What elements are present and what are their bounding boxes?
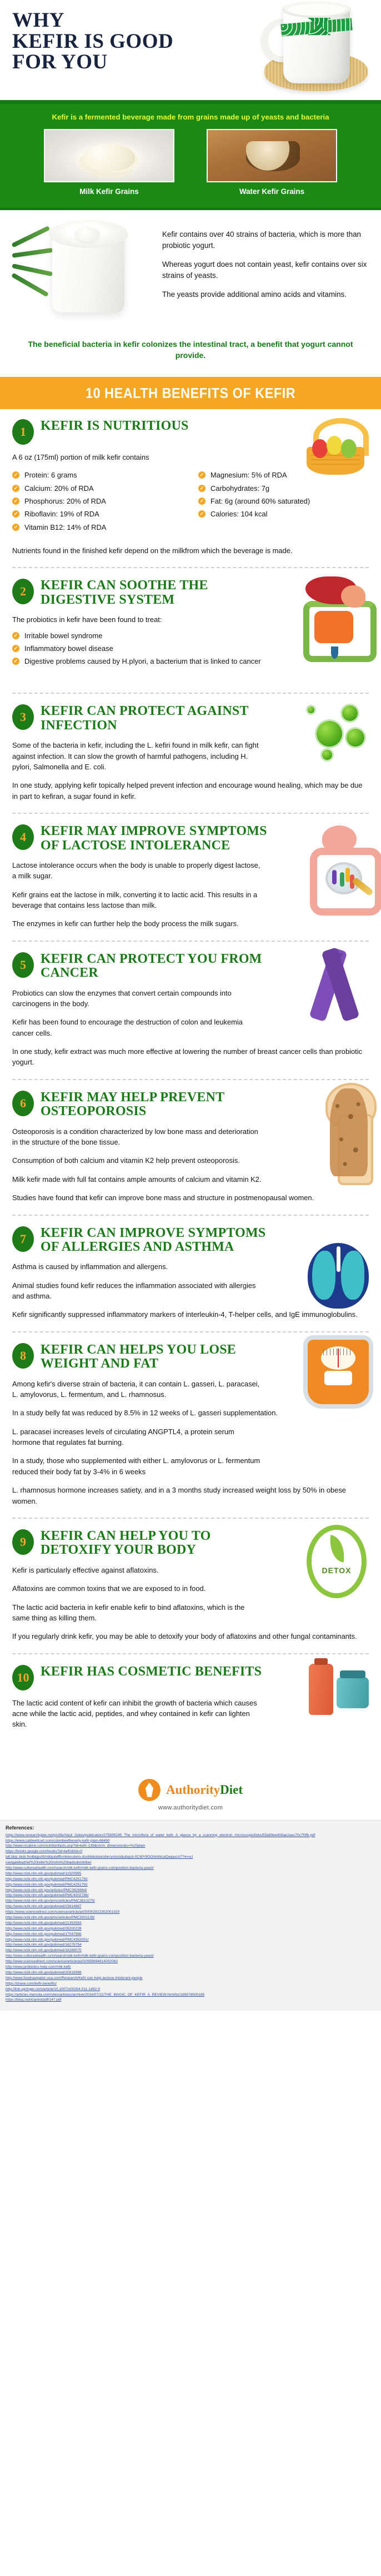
reference-link[interactable]: http://www.ncbi.nlm.nih.gov/pmc/articles… [6,1915,375,1921]
nutrition-list-left: ✓Protein: 6 grams ✓Calcium: 20% of RDA ✓… [12,470,183,533]
benefit-body: The lactic acid content of kefir can inh… [12,1698,369,1760]
benefit-number-badge: 8 [12,1343,34,1369]
reference-link[interactable]: http://www.ncbi.nlm.nih.gov/pubmed/23614… [6,1904,375,1909]
benefit-title: KEFIR CAN IMPROVE SYMPTOMS OF ALLERGIES … [41,1225,279,1255]
list-item-label: Irritable bowel syndrome [24,631,102,640]
yogurt-swirl-shape [74,227,100,241]
benefit-paragraph: In a study belly fat was reduced by 8.5%… [12,1408,369,1418]
benefit-heading: 5 KEFIR CAN PROTECT YOU FROM CANCER [12,951,369,981]
treats-list: ✓Irritable bowel syndrome ✓Inflammatory … [12,631,369,667]
benefit-paragraph: In a study, those who supplemented with … [12,1455,263,1477]
reference-link[interactable]: http://www.ncbi.nlm.nih.gov/pubmed/PMC42… [6,1882,375,1888]
intro-section: Kefir contains over 40 strains of bacter… [0,210,381,377]
list-item-label: Vitamin B12: 14% of RDA [24,523,106,531]
list-item-label: Digestive problems caused by H.plyori, a… [24,657,261,665]
page-title-line-2: KEFIR IS GOOD [12,31,234,52]
reference-link[interactable]: http://www.ncbi.nlm.nih.gov/articles/PMC… [6,1888,375,1893]
section-header-title: 10 HEALTH BENEFITS OF KEFIR [86,385,295,402]
benefit-number-badge: 1 [12,419,34,445]
benefit-block-9: DETOX 9 KEFIR CAN HELP YOU TO DETOXIFY Y… [0,1519,381,1650]
intro-paragraph: Kefir contains over 40 strains of bacter… [162,229,369,251]
section-header-bar: 10 HEALTH BENEFITS OF KEFIR [0,377,381,409]
page-title: WHY KEFIR IS GOOD FOR YOU [12,10,234,73]
check-icon: ✓ [198,510,205,518]
benefit-number-badge: 2 [12,579,34,604]
reference-link[interactable]: http://www.cultureahealth.com/search/sil… [6,1953,375,1959]
list-item-label: Riboflavin: 19% of RDA [24,510,99,518]
reference-link[interactable]: http://www.ncbi.nlm.nih.gov/pubmed/20616… [6,1970,375,1976]
benefit-paragraph: L. paracasei increases levels of circula… [12,1426,263,1448]
green-banner-section: Kefir is a fermented beverage made from … [0,104,381,208]
benefit-body: Osteoporosis is a condition characterize… [12,1126,369,1204]
reference-link[interactable]: http://www.ncbi.nlm.nih.gov/pubmed/26200… [6,1926,375,1932]
list-item-label: Magnesium: 5% of RDA [210,471,287,479]
benefit-body: Probiotics can slow the enzymes that con… [12,988,369,1068]
list-item: ✓Magnesium: 5% of RDA [198,470,369,480]
benefit-block-7: 7 KEFIR CAN IMPROVE SYMPTOMS OF ALLERGIE… [0,1216,381,1328]
reference-link[interactable]: http://www.ncbi.nlm.nih.gov/pubmed/16289… [6,1948,375,1953]
kefir-grain-gallery: Milk Kefir Grains Water Kefir Grains [0,129,381,196]
milk-surface-shape [288,4,345,16]
benefit-body: Among kefir's diverse strain of bacteria… [12,1379,369,1506]
reference-link[interactable]: http://www.ncbi.nlm.nih.gov/pubmed/PMC42… [6,1877,375,1882]
nutrition-outro: Nutrients found in the finished kefir de… [12,545,369,556]
benefit-title: KEFIR CAN SOOTHE THE DIGESTIVE SYSTEM [41,578,263,607]
grain-card: Water Kefir Grains [207,129,337,196]
reference-link[interactable]: http://www.ncbi.nlm.nih.gov/pubmed/PMC40… [6,1893,375,1898]
benefit-body: Kefir is particularly effective against … [12,1565,369,1642]
benefit-number-badge: 5 [12,952,34,978]
reference-link[interactable]: http://www.ncbi.nlm.nih.gov/pmc/articles… [6,1898,375,1904]
benefit-number-badge: 9 [12,1529,34,1555]
benefit-body: A 6 oz (175ml) portion of milk kefir con… [12,452,369,556]
benefit-title: KEFIR MAY HELP PREVENT OSTEOPOROSIS [41,1090,263,1119]
list-item: ✓Phosphorus: 20% of RDA [12,496,183,506]
benefit-paragraph: Among kefir's diverse strain of bacteria… [12,1379,263,1400]
benefit-heading: 3 KEFIR CAN PROTECT AGAINST INFECTION [12,703,369,733]
footer-url[interactable]: www.authoritydiet.com [0,1804,381,1811]
benefit-number-badge: 10 [12,1665,34,1690]
list-item-label: Protein: 6 grams [24,471,77,479]
benefit-intro: The probiotics in kefir have been found … [12,614,369,625]
reference-link[interactable]: https://www.sciencedirect.com/science/ar… [6,1909,375,1915]
yogurt-illustration [9,217,159,334]
benefit-paragraph: Osteoporosis is a condition characterize… [12,1126,263,1148]
benefit-heading: 9 KEFIR CAN HELP YOU TO DETOXIFY YOUR BO… [12,1528,369,1558]
benefit-title: KEFIR CAN PROTECT YOU FROM CANCER [41,951,263,981]
reference-link[interactable]: https://articles.mercola.com/sites/artic… [6,1992,375,1998]
list-item-label: Calories: 104 kcal [210,510,267,518]
reference-link[interactable]: http://www.foodnavigator-usa.com/Researc… [6,1976,375,1981]
intro-paragraphs: Kefir contains over 40 strains of bacter… [162,229,369,309]
milk-kefir-grains-image [44,129,174,182]
benefit-number-badge: 4 [12,824,34,850]
benefit-paragraph: Kefir has been found to encourage the de… [12,1017,263,1038]
benefit-title: KEFIR CAN HELPS YOU LOSE WEIGHT AND FAT [41,1342,263,1371]
benefit-block-8: 8 KEFIR CAN HELPS YOU LOSE WEIGHT AND FA… [0,1333,381,1514]
benefit-title: KEFIR MAY IMPROVE SYMPTOMS OF LACTOSE IN… [41,823,279,853]
benefit-body: Asthma is caused by inflammation and all… [12,1261,369,1320]
water-kefir-grains-caption: Water Kefir Grains [207,182,337,196]
page-title-line-1: WHY [12,10,234,31]
benefit-paragraph: Animal studies found kefir reduces the i… [12,1280,263,1302]
check-icon: ✓ [12,645,19,652]
reference-link[interactable]: http://www.ncbi.nlm.nih.gov/pubmed/21353… [6,1921,375,1926]
benefit-number-badge: 3 [12,704,34,730]
benefit-paragraph: In one study, kefir extract was much mor… [12,1046,369,1068]
benefit-title: KEFIR IS NUTRITIOUS [41,418,189,433]
benefit-body: Some of the bacteria in kefir, including… [12,740,369,802]
list-item: ✓Carbohydrates: 7g [198,484,369,494]
benefit-title: KEFIR HAS COSMETIC BENEFITS [41,1664,262,1679]
benefit-paragraph: Kefir grains eat the lactose in milk, co… [12,889,263,911]
benefit-title: KEFIR CAN HELP YOU TO DETOXIFY YOUR BODY [41,1528,279,1558]
benefit-heading: 2 KEFIR CAN SOOTHE THE DIGESTIVE SYSTEM [12,578,369,607]
list-item: ✓Fat: 6g (around 60% saturated) [198,496,369,506]
benefit-block-6: 6 KEFIR MAY HELP PREVENT OSTEOPOROSIS Os… [0,1081,381,1211]
benefit-block-1: 1 KEFIR IS NUTRITIOUS A 6 oz (175ml) por… [0,409,381,564]
benefit-body: The probiotics in kefir have been found … [12,614,369,684]
list-item: ✓Calories: 104 kcal [198,509,369,519]
benefit-title: KEFIR CAN PROTECT AGAINST INFECTION [41,703,263,733]
list-item: ✓Inflammatory bowel disease [12,644,369,654]
reference-link[interactable]: http://www.ncubine.com/nutritionfacts.as… [6,1843,375,1849]
benefit-paragraph: Aflatoxins are common toxins that we are… [12,1583,263,1594]
reference-link[interactable]: http://www.ncbi.nlm.nih.gov/pubmed/17047… [6,1932,375,1937]
benefit-paragraph: The lactic acid bacteria in kefir enable… [12,1602,263,1624]
benefit-heading: 7 KEFIR CAN IMPROVE SYMPTOMS OF ALLERGIE… [12,1225,369,1255]
benefit-heading: 1 KEFIR IS NUTRITIOUS [12,418,369,445]
benefit-paragraph: Lactose intolerance occurs when the body… [12,860,263,882]
reference-link[interactable]: http://www.cultureahealth.com/search/sil… [6,1866,375,1871]
benefit-paragraph: If you regularly drink kefir, you may be… [12,1631,369,1642]
list-item-label: Carbohydrates: 7g [210,484,269,493]
list-item-label: Calcium: 20% of RDA [24,484,94,493]
check-icon: ✓ [12,524,19,531]
reference-link[interactable]: https://draxe.com/kefir-benefits/ [6,1981,375,1987]
list-item-label: Inflammatory bowel disease [24,644,113,653]
nutrition-intro: A 6 oz (175ml) portion of milk kefir con… [12,452,369,463]
green-banner-lead-text: Kefir is a fermented beverage made from … [0,113,381,129]
benefit-number-badge: 6 [12,1091,34,1116]
list-item-label: Phosphorus: 20% of RDA [24,497,106,505]
reference-link[interactable]: https://www.researchgate.net/profile/Vas… [6,1833,375,1838]
list-item-label: Fat: 6g (around 60% saturated) [210,497,310,505]
reference-link[interactable]: https://blog.nutricianist/pdf/147.pdf [6,1997,375,2003]
benefit-paragraph: In one study, applying kefir topically h… [12,780,369,802]
hero-section: WHY KEFIR IS GOOD FOR YOU [0,0,381,100]
benefit-paragraph: Kefir significantly suppressed inflammat… [12,1309,369,1320]
benefit-block-10: 10 KEFIR HAS COSMETIC BENEFITS The lacti… [0,1655,381,1766]
check-icon: ✓ [12,485,19,492]
benefit-block-4: 4 KEFIR MAY IMPROVE SYMPTOMS OF LACTOSE … [0,814,381,937]
kefir-mug-illustration [254,0,377,103]
benefit-paragraph: Asthma is caused by inflammation and all… [12,1261,263,1272]
reference-link[interactable]: http://link.springer.com/article/10.1007… [6,1987,375,1992]
check-icon: ✓ [12,510,19,518]
reference-link[interactable]: navigatebydrief%20refer%20rohn%20badsubm… [6,1860,375,1866]
nutrition-list-right: ✓Magnesium: 5% of RDA ✓Carbohydrates: 7g… [198,470,369,519]
logo-word-diet: Diet [220,1783,243,1797]
check-icon: ✓ [12,658,19,665]
water-kefir-grains-image [207,129,337,182]
benefit-heading: 4 KEFIR MAY IMPROVE SYMPTOMS OF LACTOSE … [12,823,369,853]
benefit-block-2: 2 KEFIR CAN SOOTHE THE DIGESTIVE SYSTEM … [0,569,381,689]
benefit-paragraph: Consumption of both calcium and vitamin … [12,1155,263,1166]
infographic-page: WHY KEFIR IS GOOD FOR YOU Kefir is a fer… [0,0,381,2011]
logo-wordmark: AuthorityDiet [166,1783,243,1796]
reference-link[interactable]: https://www.caldwellcart.com/colonbeefbe… [6,1838,375,1844]
list-item: ✓Protein: 6 grams [12,470,183,480]
benefit-heading: 8 KEFIR CAN HELPS YOU LOSE WEIGHT AND FA… [12,1342,369,1371]
list-item: ✓Riboflavin: 19% of RDA [12,509,183,519]
references-list: https://www.researchgate.net/profile/Vas… [6,1833,375,2003]
check-icon: ✓ [198,485,205,492]
reference-link[interactable]: https://books.google.com/books?id=kefir&… [6,1849,375,1854]
references-section: References: https://www.researchgate.net… [0,1820,381,2011]
footer-branding: AuthorityDiet www.authoritydiet.com [0,1766,381,1820]
check-icon: ✓ [12,471,19,479]
benefit-block-3: 3 KEFIR CAN PROTECT AGAINST INFECTION So… [0,694,381,809]
benefit-paragraph: Milk kefir made with full fat contains a… [12,1174,369,1185]
benefit-heading: 6 KEFIR MAY HELP PREVENT OSTEOPOROSIS [12,1090,369,1119]
page-title-line-3: FOR YOU [12,52,234,73]
nutrition-columns: ✓Protein: 6 grams ✓Calcium: 20% of RDA ✓… [12,465,369,535]
benefit-paragraph: The lactic acid content of kefir can inh… [12,1698,263,1730]
benefit-number-badge: 7 [12,1226,34,1252]
check-icon: ✓ [198,498,205,505]
check-icon: ✓ [12,498,19,505]
reference-link[interactable]: bjtl.bbjc.blob.findbigpcfit/nbbjubdffnmb… [6,1854,375,1860]
reference-link[interactable]: http://www.ncbi.nlm.nih.gov/pubmed/11920… [6,1871,375,1877]
benefit-paragraph: Some of the bacteria in kefir, including… [12,740,263,772]
intro-highlight-text: The beneficial bacteria in kefir coloniz… [14,339,367,361]
reference-link[interactable]: http://www.sciencedirect.com/science/art… [6,1959,375,1965]
list-item: ✓Irritable bowel syndrome [12,631,369,641]
benefit-paragraph: Kefir is particularly effective against … [12,1565,263,1575]
benefit-block-5: 5 KEFIR CAN PROTECT YOU FROM CANCER Prob… [0,942,381,1076]
benefit-paragraph: L. rhamnosus hormone increases satiety, … [12,1485,369,1506]
milk-kefir-grains-caption: Milk Kefir Grains [44,182,174,196]
list-item: ✓Vitamin B12: 14% of RDA [12,523,183,533]
check-icon: ✓ [12,632,19,639]
list-item: ✓Digestive problems caused by H.plyori, … [12,657,369,667]
logo-row[interactable]: AuthorityDiet [0,1779,381,1801]
check-icon: ✓ [198,471,205,479]
shield-logo-icon [138,1779,161,1801]
logo-word-authority: Authority [166,1783,220,1797]
reference-link[interactable]: http://www.probiotics-help.com/milk-kefi… [6,1965,375,1970]
benefit-heading: 10 KEFIR HAS COSMETIC BENEFITS [12,1664,369,1690]
references-heading: References: [6,1825,375,1831]
reference-link[interactable]: http://www.ncbi.nlm.nih.gov/pubmed/16278… [6,1942,375,1948]
benefit-paragraph: Probiotics can slow the enzymes that con… [12,988,263,1009]
intro-paragraph: The yeasts provide additional amino acid… [162,289,369,300]
benefit-body: Lactose intolerance occurs when the body… [12,860,369,929]
list-item: ✓Calcium: 20% of RDA [12,484,183,494]
intro-paragraph: Whereas yogurt does not contain yeast, k… [162,259,369,281]
benefit-paragraph: Studies have found that kefir can improv… [12,1192,369,1203]
benefit-paragraph: The enzymes in kefir can further help th… [12,918,369,929]
reference-link[interactable]: http://www.ncbi.nlm.nih.gov/pubmed/PMC43… [6,1937,375,1943]
grain-card: Milk Kefir Grains [44,129,174,196]
